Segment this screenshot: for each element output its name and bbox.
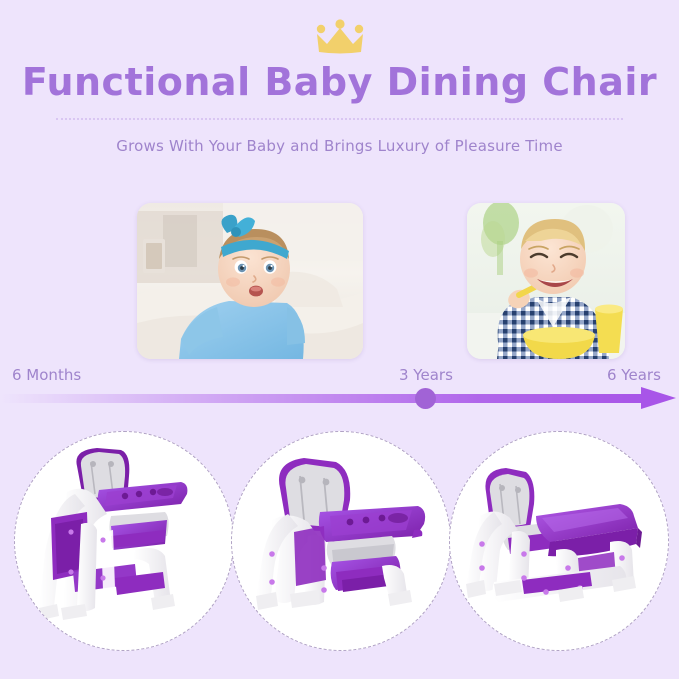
photo-baby-headband [137,203,363,359]
product-circle-booster-chair [231,431,451,651]
timeline-arrow-icon [641,387,676,409]
age-timeline: 6 Months 3 Years 6 Years [0,365,679,415]
timeline-marker-3-years [415,388,436,409]
infographic-page: Functional Baby Dining Chair Grows With … [0,0,679,679]
photo-toddler-eating [467,203,625,359]
product-configurations [0,431,679,659]
header-divider [56,118,623,120]
product-circle-high-chair [14,431,234,651]
page-subtitle: Grows With Your Baby and Brings Luxury o… [0,135,679,157]
timeline-label-start: 6 Months [12,365,81,385]
timeline-line [0,394,645,403]
product-circle-chair-and-table [449,431,669,651]
crown-icon [312,18,368,56]
timeline-label-end: 6 Years [607,365,661,385]
page-title: Functional Baby Dining Chair [0,60,679,104]
timeline-label-mid: 3 Years [399,365,453,385]
